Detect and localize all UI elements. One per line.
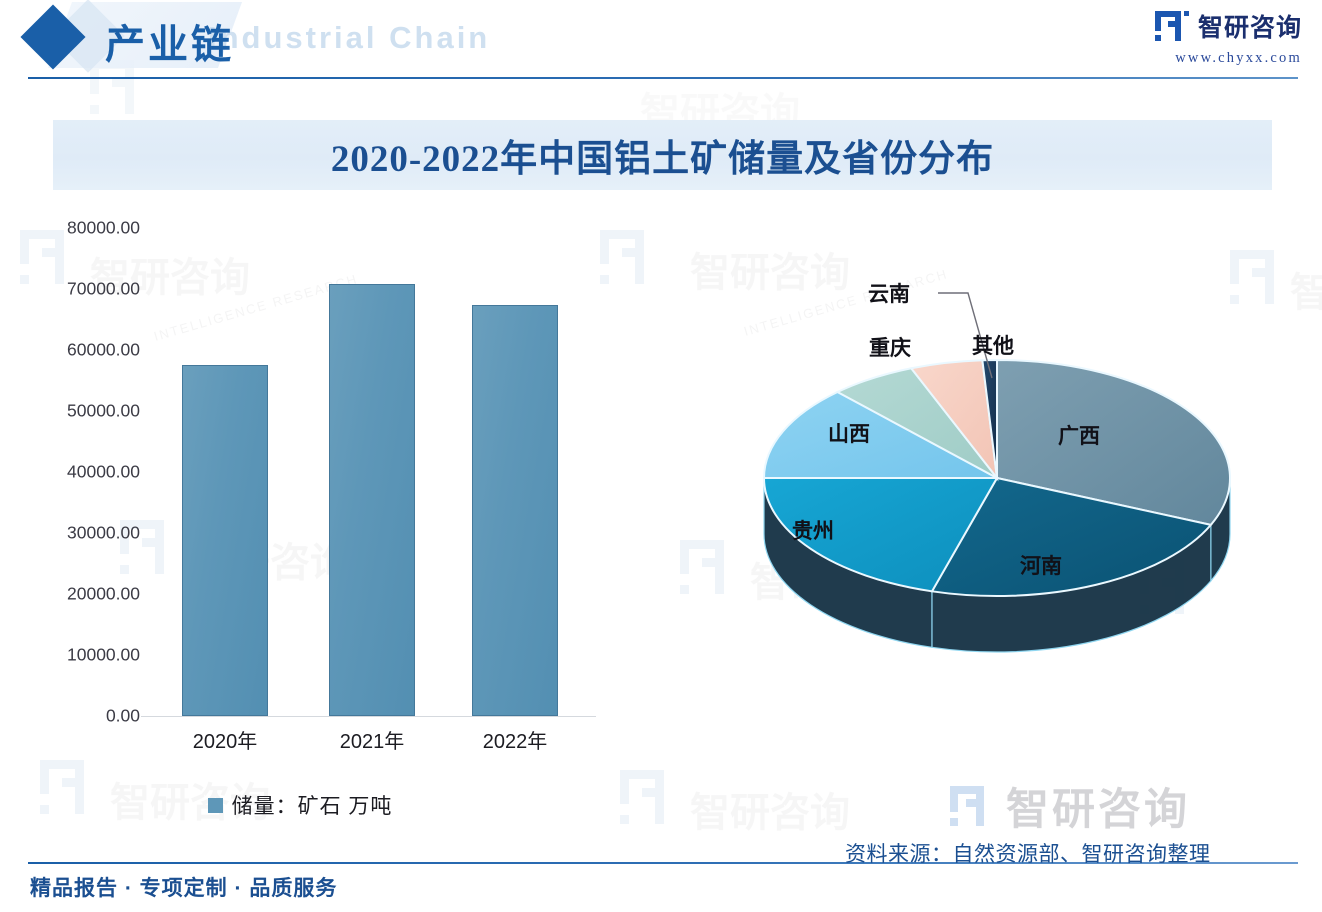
x-axis-tick: 2020年 bbox=[142, 725, 308, 754]
y-axis-tick: 70000.00 bbox=[10, 279, 140, 300]
footer-tagline: 精品报告 · 专项定制 · 品质服务 bbox=[30, 872, 337, 902]
y-axis-tick: 60000.00 bbox=[10, 340, 140, 361]
pie-label-guizhou: 贵州 bbox=[792, 515, 834, 545]
y-axis-tick: 80000.00 bbox=[10, 218, 140, 239]
pie-label-yunnan: 云南 bbox=[868, 278, 910, 308]
chart-title: 2020-2022年中国铝土矿储量及省份分布 bbox=[53, 120, 1272, 190]
x-axis-line bbox=[141, 716, 596, 717]
y-axis-tick: 30000.00 bbox=[10, 523, 140, 544]
pie-chart: 广西 河南 贵州 山西 重庆 其他 云南 bbox=[700, 190, 1322, 720]
pie-label-henan: 河南 bbox=[1020, 550, 1062, 580]
legend-label: 储量：矿石 万吨 bbox=[232, 790, 393, 820]
y-axis-tick: 40000.00 bbox=[10, 462, 140, 483]
source-note: 资料来源：自然资源部、智研咨询整理 bbox=[845, 838, 1211, 868]
chart-page: 智研咨询 INTELLIGENCE RESEARCH 智研咨询 INTELLIG… bbox=[0, 0, 1322, 912]
section-title-en: Industrial Chain bbox=[208, 20, 490, 56]
pie-label-guangxi: 广西 bbox=[1058, 420, 1100, 450]
x-axis-tick: 2021年 bbox=[289, 725, 455, 754]
legend-swatch-icon bbox=[208, 798, 223, 813]
brand-name: 智研咨询 bbox=[1198, 8, 1302, 44]
bar-2021年[interactable] bbox=[329, 284, 415, 716]
chart-title-band: 2020-2022年中国铝土矿储量及省份分布 bbox=[53, 120, 1272, 190]
pie-svg bbox=[700, 190, 1322, 720]
y-axis-tick: 20000.00 bbox=[10, 584, 140, 605]
chyxx-logo-icon bbox=[1155, 11, 1189, 41]
x-axis-tick: 2022年 bbox=[432, 725, 598, 754]
section-title-cn: 产业链 bbox=[105, 12, 234, 70]
y-axis-tick: 50000.00 bbox=[10, 401, 140, 422]
header-divider bbox=[28, 77, 1298, 79]
bar-2022年[interactable] bbox=[472, 305, 558, 716]
bar-legend: 储量：矿石 万吨 bbox=[0, 790, 600, 820]
pie-label-other: 其他 bbox=[972, 330, 1014, 360]
y-axis-tick-labels: 80000.0070000.0060000.0050000.0040000.00… bbox=[0, 190, 140, 810]
brand-url[interactable]: www.chyxx.com bbox=[1155, 50, 1302, 67]
y-axis-tick: 0.00 bbox=[10, 706, 140, 727]
y-axis-tick: 10000.00 bbox=[10, 645, 140, 666]
page-header: Industrial Chain 产业链 智研咨询 www.chyxx.com bbox=[0, 0, 1322, 90]
brand-block[interactable]: 智研咨询 www.chyxx.com bbox=[1155, 8, 1302, 67]
pie-label-shanxi: 山西 bbox=[828, 418, 870, 448]
pie-label-chongqing: 重庆 bbox=[869, 332, 911, 362]
bar-2020年[interactable] bbox=[182, 365, 268, 716]
